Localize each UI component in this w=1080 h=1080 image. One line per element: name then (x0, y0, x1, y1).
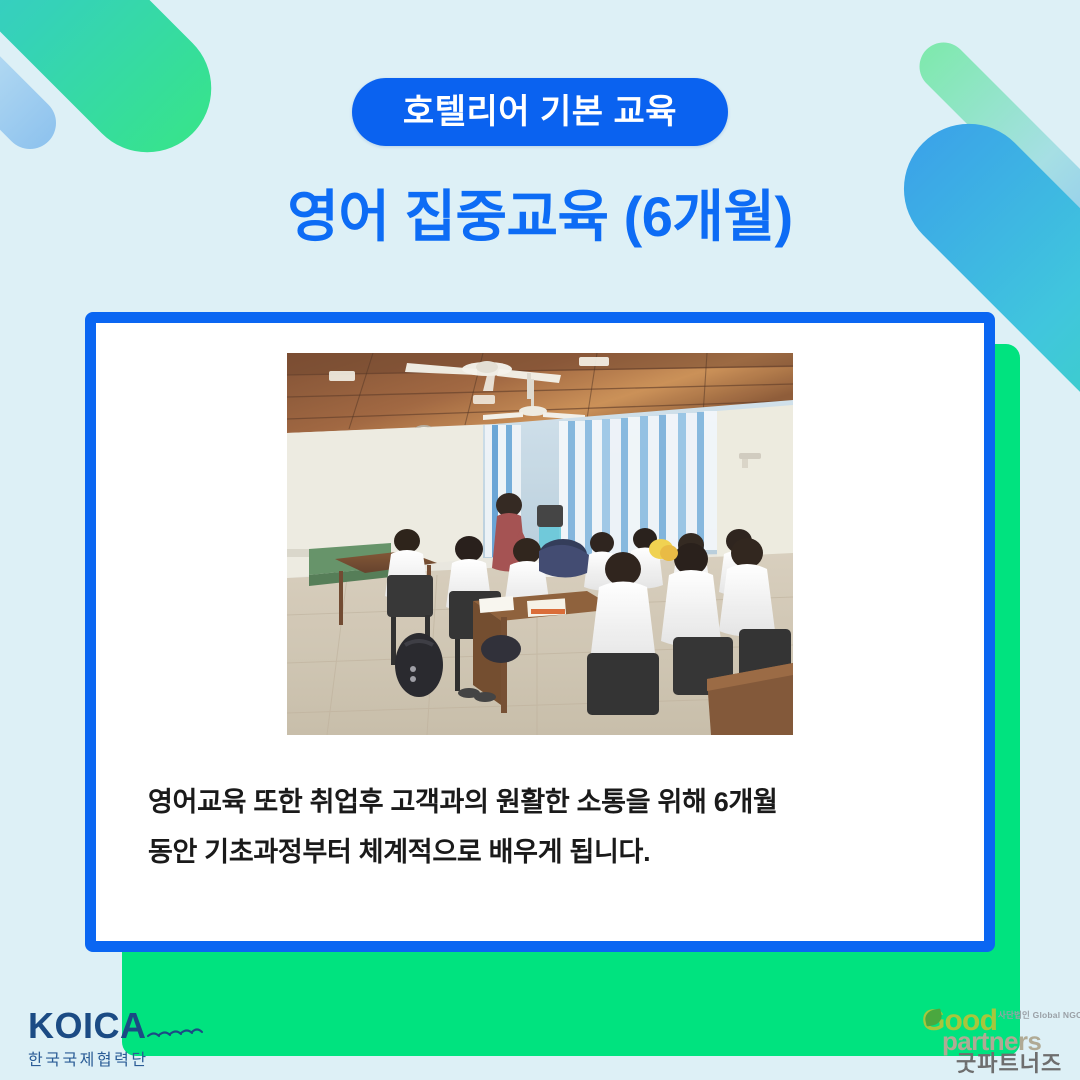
caption-line-1: 영어교육 또한 취업후 고객과의 원활한 소통을 위해 6개월 (148, 778, 948, 828)
good-partners-korean-name: 굿파트너즈 (956, 1053, 1062, 1075)
koica-swoosh-icon (146, 1022, 206, 1046)
caption-line-2: 동안 기초과정부터 체계적으로 배우게 됩니다. (148, 828, 948, 878)
classroom-photo-illustration (287, 353, 793, 735)
card-caption: 영어교육 또한 취업후 고객과의 원활한 소통을 위해 6개월 동안 기초과정부… (148, 778, 948, 878)
infographic-canvas: 호텔리어 기본 교육 영어 집중교육 (6개월) (0, 0, 1080, 1080)
section-badge: 호텔리어 기본 교육 (352, 78, 728, 146)
koica-wordmark: KOICA (28, 1008, 147, 1044)
good-partners-logo: Good 사단법인 Global NGO partners 굿파트너즈 (922, 1006, 1064, 1074)
section-badge-label: 호텔리어 기본 교육 (403, 95, 677, 129)
classroom-photo (287, 353, 793, 735)
page-title: 영어 집중교육 (6개월) (0, 186, 1080, 248)
decorative-bar-top-left-small (0, 0, 67, 160)
good-partners-tagline: 사단법인 Global NGO (998, 1009, 1080, 1021)
koica-logo: KOICA 한국국제협력단 (28, 1008, 228, 1072)
decorative-bar-top-left-large (0, 0, 238, 179)
koica-subtitle: 한국국제협력단 (28, 1053, 228, 1069)
